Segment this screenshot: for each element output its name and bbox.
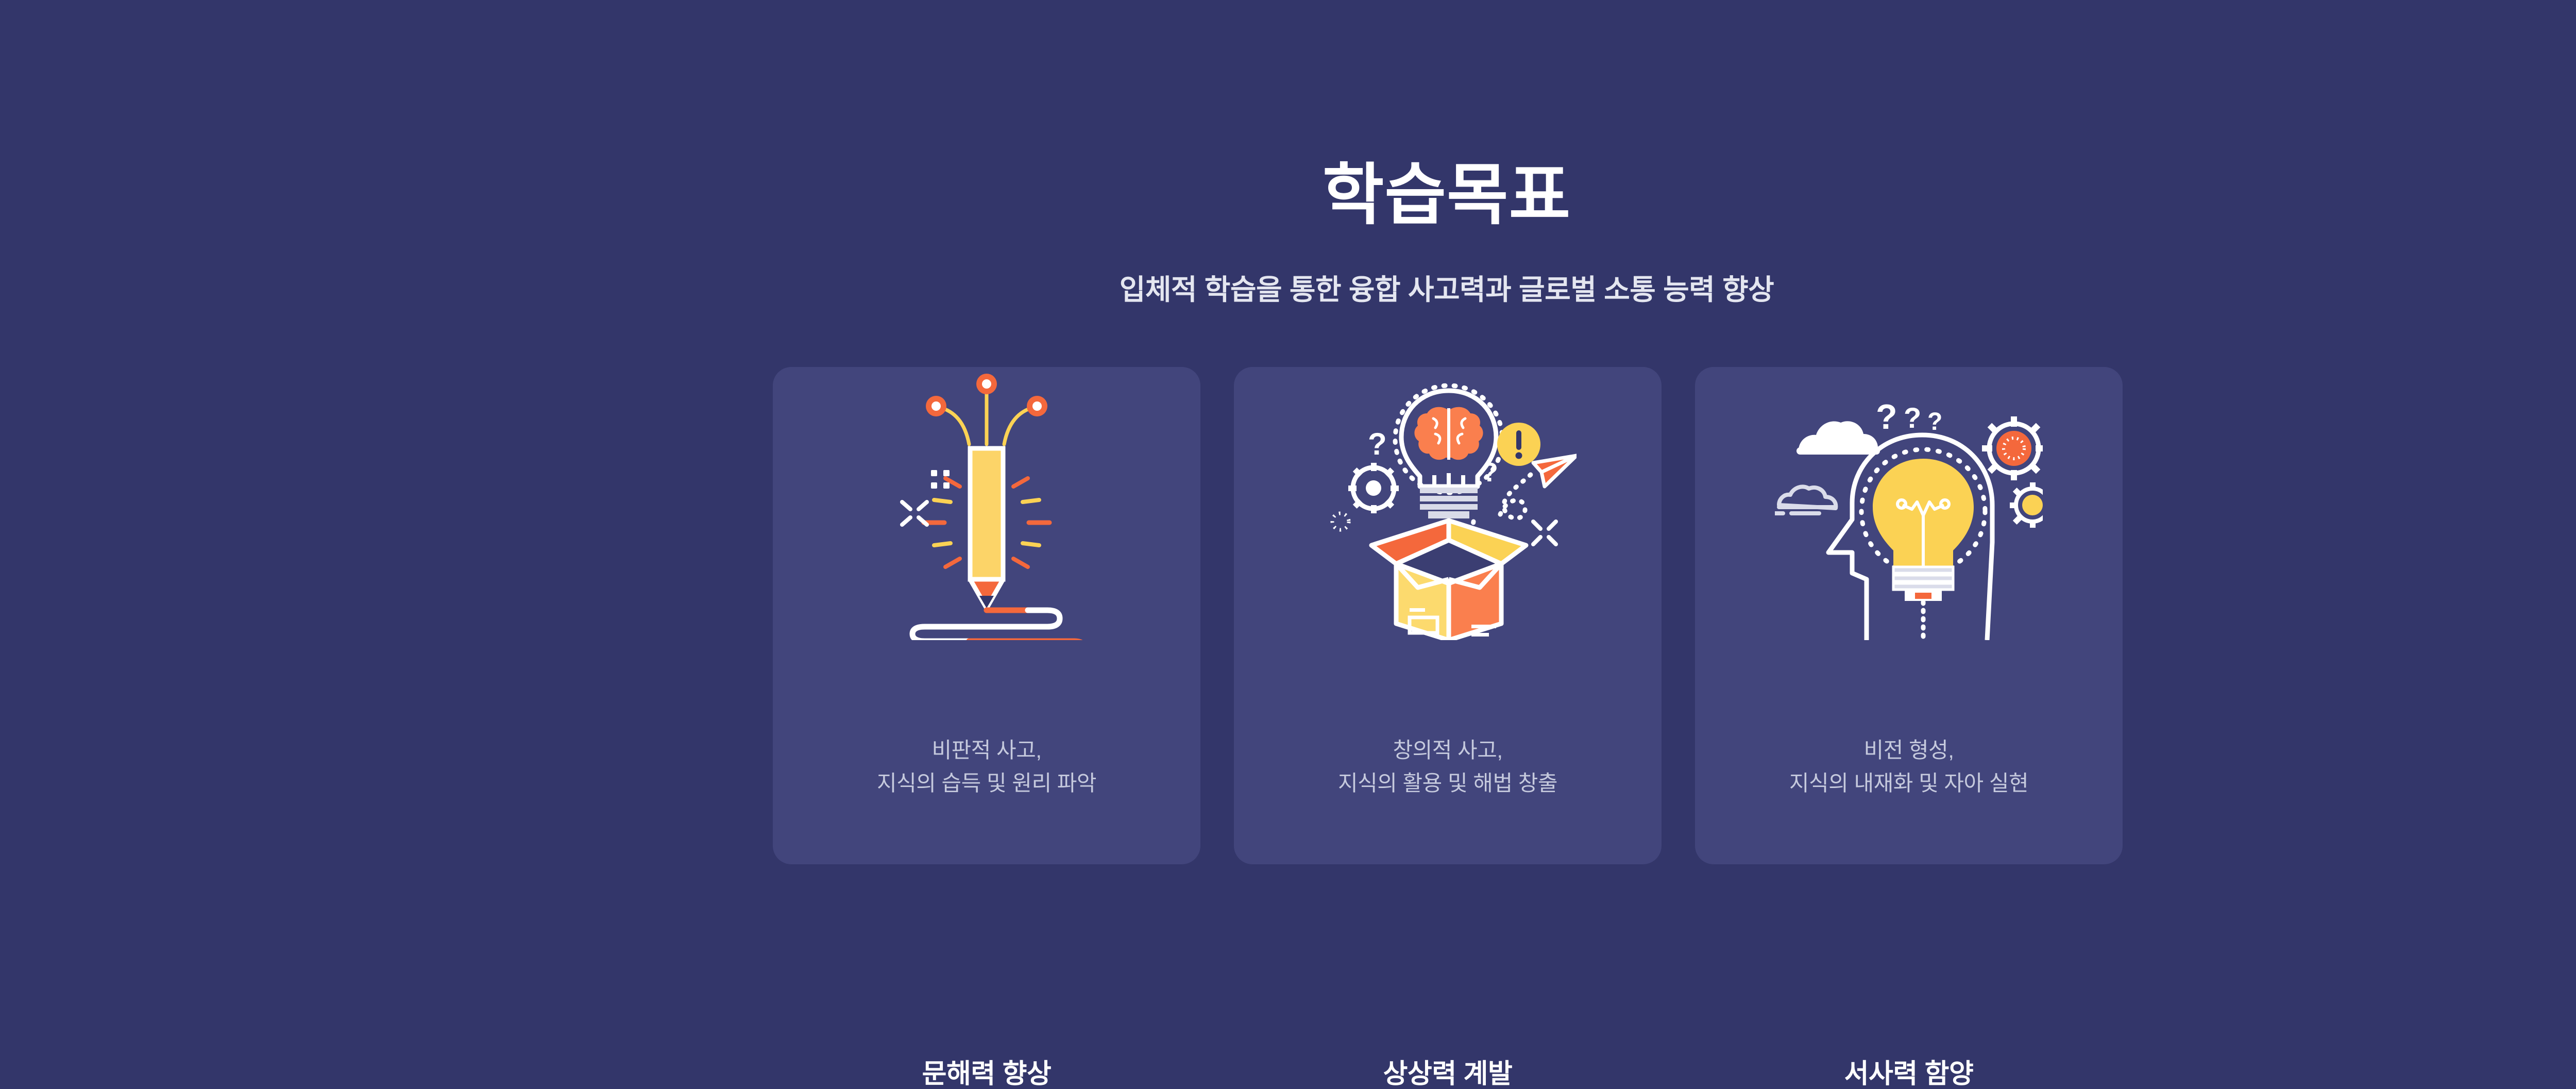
brain-lightbulb-box-icon: ? ? (1234, 367, 1662, 656)
svg-text:?: ? (1876, 397, 1897, 437)
svg-text:?: ? (1368, 427, 1387, 461)
svg-text:?: ? (1904, 401, 1921, 434)
head-lightbulb-gears-icon: ? ? ? (1695, 367, 2123, 656)
card-description: 비판적 사고, 지식의 습득 및 원리 파악 (773, 734, 1200, 800)
card-description-line: 지식의 활용 및 해법 창출 (1234, 767, 1662, 800)
card-title: 문해력 향상 (773, 1061, 1200, 1087)
learning-objectives-section: 학습목표 입체적 학습을 통한 융합 사고력과 글로벌 소통 능력 향상 (0, 0, 2576, 1018)
card-title: 서사력 함양 (1695, 1061, 2123, 1087)
card-description-line: 비전 형성, (1695, 734, 2123, 767)
page-subtitle: 입체적 학습을 통한 융합 사고력과 글로벌 소통 능력 향상 (0, 276, 2576, 304)
svg-text:?: ? (1927, 408, 1942, 435)
card-description: 비전 형성, 지식의 내재화 및 자아 실현 (1695, 734, 2123, 800)
card-description-line: 지식의 내재화 및 자아 실현 (1695, 767, 2123, 800)
card-description-line: 지식의 습득 및 원리 파악 (773, 767, 1200, 800)
objective-card-literacy[interactable]: 문해력 향상 비판적 사고, 지식의 습득 및 원리 파악 (773, 367, 1200, 864)
pencil-sparks-icon (773, 367, 1200, 656)
card-description: 창의적 사고, 지식의 활용 및 해법 창출 (1234, 734, 1662, 800)
card-description-line: 창의적 사고, (1234, 734, 1662, 767)
page-title: 학습목표 (0, 161, 2576, 228)
objective-card-narrative[interactable]: ? ? ? (1695, 367, 2123, 864)
svg-text:?: ? (1482, 458, 1498, 488)
card-description-line: 비판적 사고, (773, 734, 1200, 767)
card-title: 상상력 계발 (1234, 1061, 1662, 1087)
objective-card-imagination[interactable]: ? ? (1234, 367, 1662, 864)
